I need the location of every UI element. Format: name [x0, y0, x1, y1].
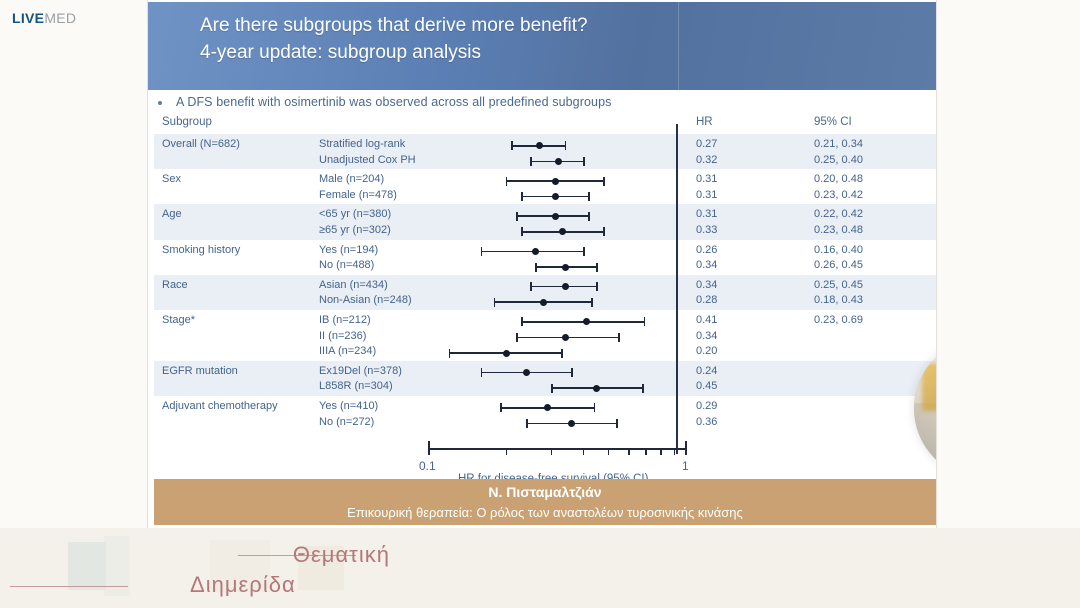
logo-med-text: MED — [44, 10, 76, 26]
axis-tick — [674, 448, 675, 455]
hazard-ratio-value: 0.33 — [696, 224, 717, 236]
subgroup-level: Asian (n=434) — [319, 279, 388, 291]
presentation-stage: LIVEMED Are there subgroups that derive … — [0, 0, 1080, 528]
axis-end-tick — [428, 441, 430, 455]
speaker-video-bubble[interactable] — [914, 338, 936, 479]
hazard-ratio-value: 0.31 — [696, 173, 717, 185]
subgroup-level: Unadjusted Cox PH — [319, 154, 416, 166]
subgroup-name: Sex — [162, 173, 181, 185]
event-rule-top — [238, 555, 356, 556]
confidence-interval-value: 0.20, 0.48 — [814, 173, 863, 185]
hazard-ratio-value: 0.34 — [696, 259, 717, 271]
slide-canvas: Are there subgroups that derive more ben… — [148, 0, 936, 528]
subgroup-level: Male (n=204) — [319, 173, 384, 185]
hazard-ratio-value: 0.29 — [696, 400, 717, 412]
column-header-hr: HR — [696, 116, 713, 128]
slide-title: Are there subgroups that derive more ben… — [200, 12, 670, 66]
subgroup-name: Stage* — [162, 314, 195, 326]
axis-end-tick — [685, 441, 687, 455]
subgroup-level: L858R (n=304) — [319, 380, 393, 392]
subgroup-level: ≥65 yr (n=302) — [319, 224, 391, 236]
axis-tick — [645, 448, 646, 455]
event-rule-bottom — [10, 586, 128, 587]
axis-tick — [608, 448, 609, 455]
hazard-ratio-value: 0.41 — [696, 314, 717, 326]
slide-title-line2: 4-year update: subgroup analysis — [200, 39, 670, 66]
axis-tick — [628, 448, 629, 455]
conference-footer: Θεματική Διημερίδα ΚΑΡΚΙΝΟΣ ΠΝΕΥΜΟΝΑ και… — [0, 528, 1080, 608]
axis-line — [429, 448, 686, 450]
axis-tick — [506, 448, 507, 455]
subgroup-name: EGFR mutation — [162, 365, 238, 377]
bullet-dot-icon — [158, 101, 162, 105]
axis-tick — [583, 448, 584, 455]
event-type-title: Θεματική Διημερίδα — [120, 540, 390, 598]
column-header-subgroup: Subgroup — [162, 116, 212, 128]
confidence-interval-value: 0.21, 0.34 — [814, 138, 863, 150]
hazard-ratio-value: 0.31 — [696, 208, 717, 220]
axis-label-min: 0.1 — [419, 459, 436, 473]
subgroup-name: Age — [162, 208, 182, 220]
confidence-interval-value: 0.25, 0.40 — [814, 154, 863, 166]
subgroup-level: Yes (n=410) — [319, 400, 378, 412]
subgroup-level: Ex19Del (n=378) — [319, 365, 402, 377]
subgroup-level: II (n=236) — [319, 330, 366, 342]
hazard-ratio-value: 0.36 — [696, 416, 717, 428]
subgroup-level: IB (n=212) — [319, 314, 371, 326]
confidence-interval-value: 0.18, 0.43 — [814, 294, 863, 306]
hazard-ratio-value: 0.45 — [696, 380, 717, 392]
axis-tick — [551, 448, 552, 455]
subgroup-level: Non-Asian (n=248) — [319, 294, 412, 306]
hazard-ratio-value: 0.28 — [696, 294, 717, 306]
subgroup-name: Adjuvant chemotherapy — [162, 400, 278, 412]
table-band — [154, 361, 936, 396]
confidence-interval-value: 0.25, 0.45 — [814, 279, 863, 291]
confidence-interval-value: 0.16, 0.40 — [814, 244, 863, 256]
logo-live-text: LIVE — [12, 10, 44, 26]
speaker-topic: Επικουρική θεραπεία: Ο ρόλος των αναστολ… — [154, 503, 936, 523]
confidence-interval-value: 0.23, 0.48 — [814, 224, 863, 236]
hazard-ratio-value: 0.32 — [696, 154, 717, 166]
livemed-logo: LIVEMED — [12, 10, 76, 26]
hazard-ratio-value: 0.31 — [696, 189, 717, 201]
confidence-interval-value: 0.23, 0.69 — [814, 314, 863, 326]
speaker-name: Ν. Πισταμαλτζιάν — [154, 479, 936, 503]
video-wall-picture — [922, 363, 936, 411]
speaker-banner: Ν. Πισταμαλτζιάν Επικουρική θεραπεία: Ο … — [154, 479, 936, 525]
slide-title-line1: Are there subgroups that derive more ben… — [200, 12, 670, 39]
column-header-ci: 95% CI — [814, 116, 852, 128]
slide-bullet: A DFS benefit with osimertinib was obser… — [154, 95, 934, 115]
title-band-seam — [678, 2, 679, 90]
subgroup-name: Overall (N=682) — [162, 138, 240, 150]
confidence-interval-value: 0.22, 0.42 — [814, 208, 863, 220]
subgroup-level: <65 yr (n=380) — [319, 208, 391, 220]
subgroup-level: Yes (n=194) — [319, 244, 378, 256]
hazard-ratio-value: 0.24 — [696, 365, 717, 377]
hazard-ratio-value: 0.20 — [696, 345, 717, 357]
subgroup-level: Stratified log-rank — [319, 138, 405, 150]
hazard-ratio-value: 0.34 — [696, 330, 717, 342]
subgroup-level: Female (n=478) — [319, 189, 397, 201]
confidence-interval-value: 0.26, 0.45 — [814, 259, 863, 271]
subgroup-level: IIIA (n=234) — [319, 345, 376, 357]
bullet-text: A DFS benefit with osimertinib was obser… — [176, 95, 612, 109]
subgroup-level: No (n=272) — [319, 416, 374, 428]
axis-label-max: 1 — [682, 459, 689, 473]
hazard-ratio-value: 0.27 — [696, 138, 717, 150]
subgroup-name: Race — [162, 279, 188, 291]
confidence-interval-value: 0.23, 0.42 — [814, 189, 863, 201]
subgroup-name: Smoking history — [162, 244, 240, 256]
slide-title-band: Are there subgroups that derive more ben… — [148, 2, 936, 90]
subgroup-table: Subgroup HR 95% CI Overall (N=682)Strati… — [154, 116, 936, 446]
axis-tick — [660, 448, 661, 455]
hazard-ratio-value: 0.26 — [696, 244, 717, 256]
hazard-ratio-value: 0.34 — [696, 279, 717, 291]
subgroup-level: No (n=488) — [319, 259, 374, 271]
event-type-line2: Διημερίδα — [120, 570, 390, 600]
